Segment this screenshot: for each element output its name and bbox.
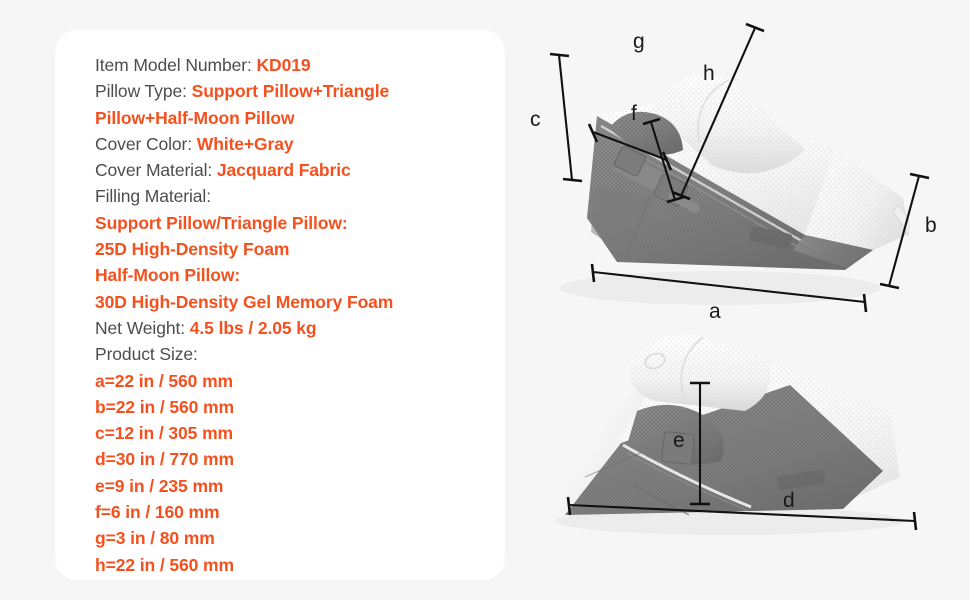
spec-line-cover-color: Cover Color: White+Gray: [95, 131, 505, 157]
dimension-label-g: g: [633, 30, 645, 53]
spec-line-dimension-d: d=30 in / 770 mm: [95, 446, 505, 472]
spec-line-dimension-g: g=3 in / 80 mm: [95, 525, 505, 551]
spec-value: 4.5 lbs / 2.05 kg: [190, 318, 317, 338]
spec-value: White+Gray: [197, 134, 294, 154]
spec-line-half-moon-foam: 30D High-Density Gel Memory Foam: [95, 289, 505, 315]
spec-line-pillow-type: Pillow Type: Support Pillow+Triangle: [95, 78, 505, 104]
spec-line-filling-material: Filling Material:: [95, 183, 505, 209]
product-image-bottom: e d: [505, 325, 970, 600]
spec-label: Cover Material:: [95, 160, 217, 180]
spec-label: Net Weight:: [95, 318, 190, 338]
spec-label: Item Model Number:: [95, 55, 257, 75]
spec-line-product-size: Product Size:: [95, 341, 505, 367]
dimension-label-d: d: [783, 489, 795, 512]
spec-line-item-model-number: Item Model Number: KD019: [95, 52, 505, 78]
spec-line-dimension-f: f=6 in / 160 mm: [95, 499, 505, 525]
spec-line-half-moon-title: Half-Moon Pillow:: [95, 262, 505, 288]
spec-line-pillow-type-cont: Pillow+Half-Moon Pillow: [95, 105, 505, 131]
spec-line-dimension-c: c=12 in / 305 mm: [95, 420, 505, 446]
product-image-area: c a b g: [505, 0, 970, 600]
spec-value: Support Pillow+Triangle: [192, 81, 390, 101]
product-image-top: c a b g: [505, 0, 970, 330]
spec-line-support-triangle-foam: 25D High-Density Foam: [95, 236, 505, 262]
dimension-label-b: b: [925, 214, 937, 237]
spec-line-dimension-b: b=22 in / 560 mm: [95, 394, 505, 420]
dimension-label-a: a: [709, 300, 721, 323]
spec-line-cover-material: Cover Material: Jacquard Fabric: [95, 157, 505, 183]
spec-line-dimension-a: a=22 in / 560 mm: [95, 368, 505, 394]
dimension-label-h: h: [703, 62, 715, 85]
spec-label: Pillow Type:: [95, 81, 192, 101]
dimension-label-e: e: [673, 429, 685, 452]
specification-card: Item Model Number: KD019 Pillow Type: Su…: [55, 30, 505, 580]
dimension-c: c: [530, 54, 582, 181]
spec-line-dimension-h: h=22 in / 560 mm: [95, 552, 505, 578]
dimension-label-f: f: [631, 102, 637, 125]
spec-value: Jacquard Fabric: [217, 160, 351, 180]
spec-line-dimension-e: e=9 in / 235 mm: [95, 473, 505, 499]
spec-label: Cover Color:: [95, 134, 197, 154]
product-spec-page: Item Model Number: KD019 Pillow Type: Su…: [0, 0, 970, 600]
dimension-label-c: c: [530, 108, 541, 131]
spec-line-support-triangle-title: Support Pillow/Triangle Pillow:: [95, 210, 505, 236]
spec-line-net-weight: Net Weight: 4.5 lbs / 2.05 kg: [95, 315, 505, 341]
spec-value: KD019: [257, 55, 311, 75]
